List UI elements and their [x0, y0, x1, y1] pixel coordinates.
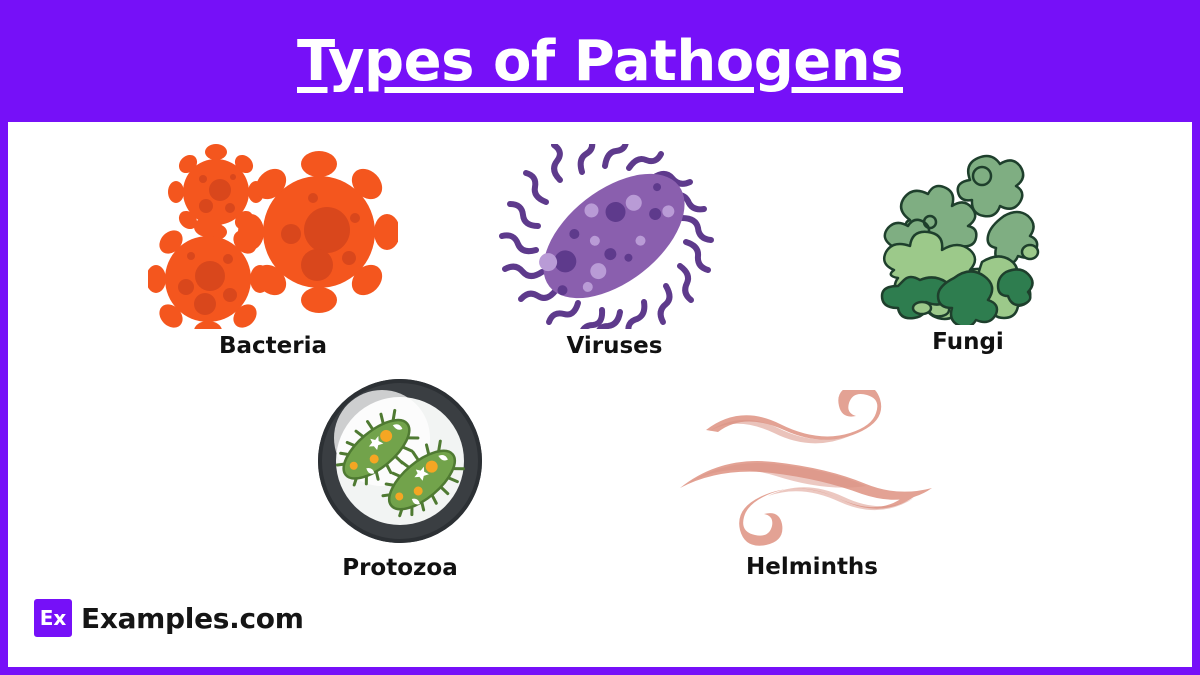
- pathogen-grid: Bacteria: [0, 122, 1200, 667]
- header-banner: Types of Pathogens: [0, 0, 1200, 122]
- bacteria-cluster-icon: [148, 144, 398, 329]
- pathogen-label-bacteria: Bacteria: [219, 333, 327, 359]
- pathogen-card-fungi[interactable]: Fungi: [858, 150, 1078, 355]
- pathogen-label-viruses: Viruses: [567, 333, 663, 359]
- virus-rod-flagella-icon: [492, 144, 737, 329]
- logo-text: Examples.com: [81, 602, 304, 635]
- pathogen-card-bacteria[interactable]: Bacteria: [148, 144, 398, 359]
- pathogen-card-helminths[interactable]: Helminths: [662, 390, 962, 580]
- pathogen-label-helminths: Helminths: [746, 554, 878, 580]
- pathogen-label-fungi: Fungi: [932, 329, 1004, 355]
- protozoa-petri-dish-icon: [300, 376, 500, 551]
- logo-mark: Ex: [34, 599, 72, 637]
- fungi-hyphae-icon: [858, 150, 1078, 325]
- pathogen-card-viruses[interactable]: Viruses: [492, 144, 737, 359]
- infographic-page: Types of Pathogens: [0, 0, 1200, 675]
- page-title: Types of Pathogens: [297, 29, 903, 94]
- examples-logo[interactable]: Ex Examples.com: [34, 599, 304, 637]
- helminth-worms-icon: [662, 390, 962, 550]
- pathogen-label-protozoa: Protozoa: [342, 555, 458, 581]
- pathogen-card-protozoa[interactable]: Protozoa: [300, 376, 500, 581]
